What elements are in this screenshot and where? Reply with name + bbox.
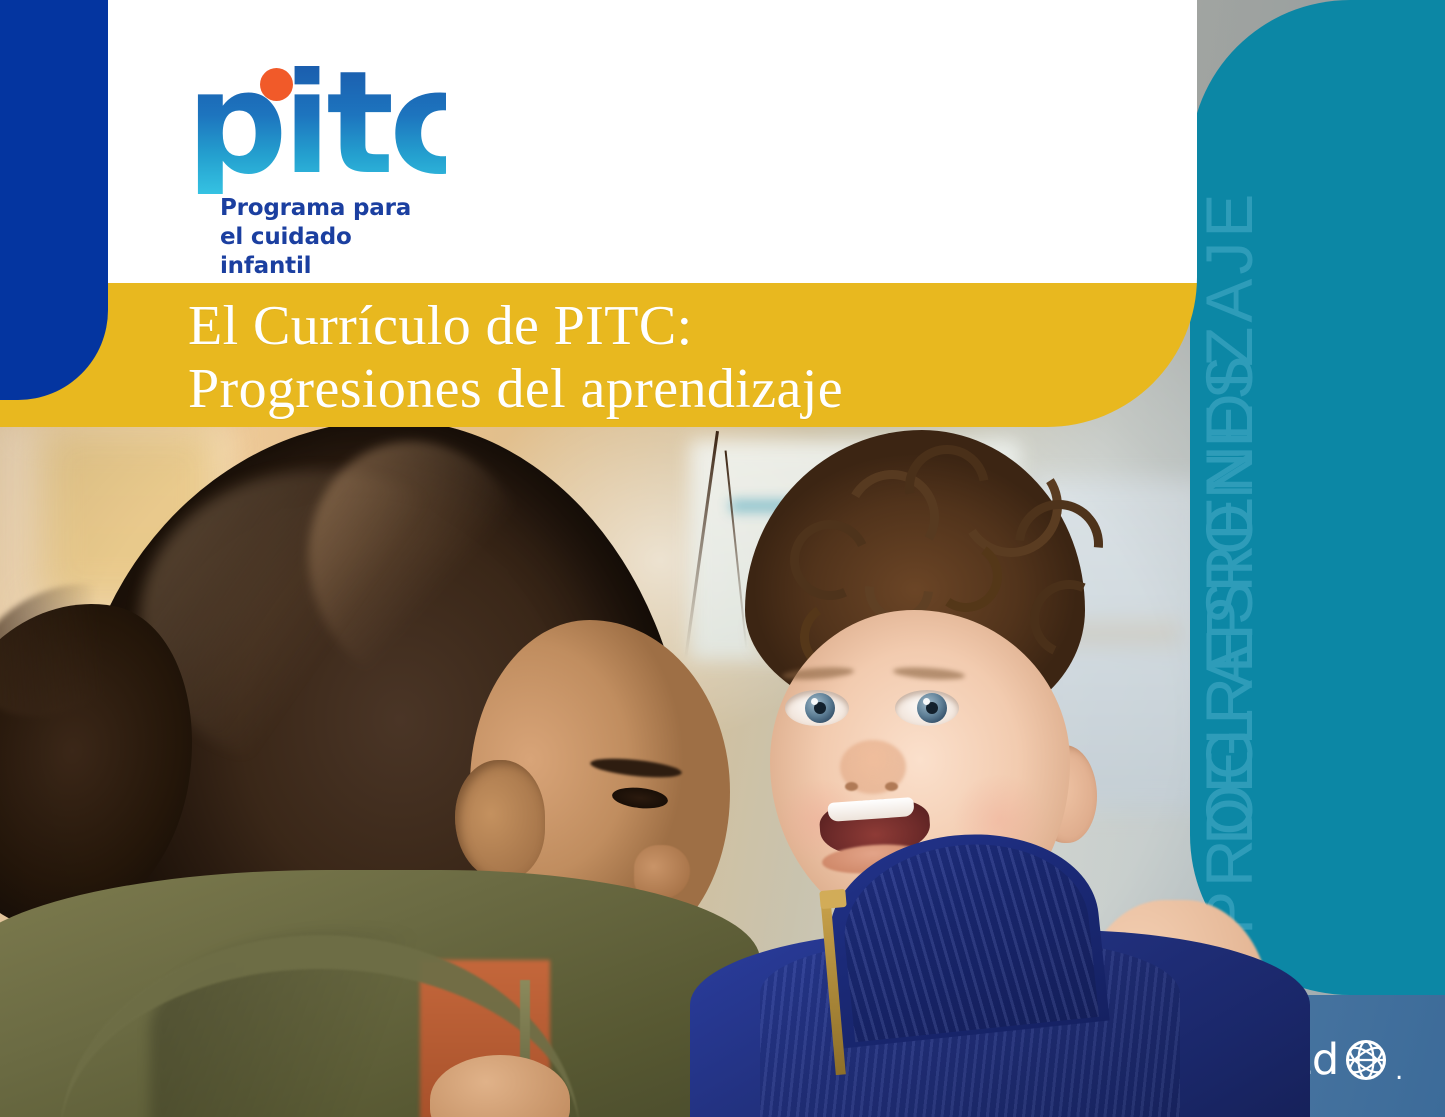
left-navy-bar [0,0,108,400]
header-white-band [0,0,1197,283]
side-panel-line-2: DEL APRENDIZAJE [1196,190,1262,845]
pitc-logo-dot-icon [260,68,293,101]
photo-toddler-nostril-right [885,782,898,791]
photo-toddler-eye-gleam-left [811,698,818,705]
photo-caregiver-ear [455,760,545,880]
side-panel-text-group: PROGRESIONES DEL APRENDIZAJE [1190,0,1445,995]
pitc-logo: pitc Programa para el cuidado infantil [186,66,446,256]
photo-toddler-zipper-pull [819,889,846,909]
photo-toddler-eye-gleam-right [923,698,930,705]
pitc-logo-wordmark: pitc [186,66,446,194]
publication-cover: PROGRESIONES DEL APRENDIZAJE pitc Progra… [0,0,1445,1117]
side-panel: PROGRESIONES DEL APRENDIZAJE [1190,0,1445,995]
pitc-logo-tagline: Programa para el cuidado infantil [220,194,446,280]
globe-icon [1344,1038,1388,1082]
photo-toddler-nostril-left [845,782,858,791]
wested-trademark-dot: . [1395,1058,1403,1084]
page-title: El Currículo de PITC: Progresiones del a… [188,295,843,420]
